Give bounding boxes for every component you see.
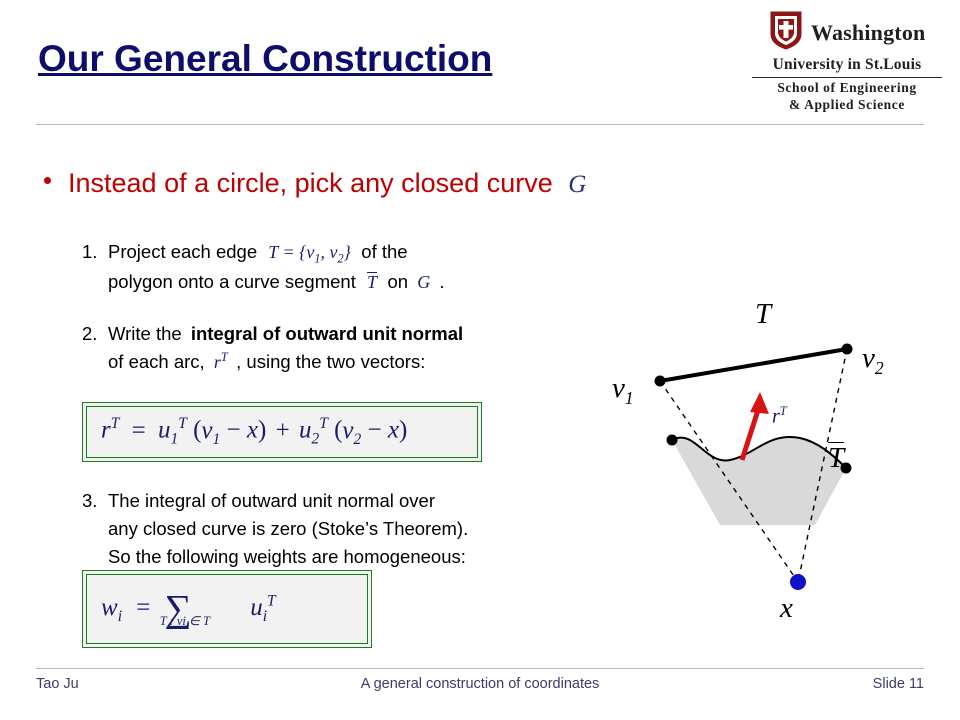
main-bullet-text: Instead of a circle, pick any closed cur… [68, 168, 553, 199]
arc-vector-math: rT [214, 352, 232, 372]
logo-line-3: School of Engineering [752, 80, 942, 97]
equation-box-1: rT = u1T (v1 − x) + u2T (v2 − x) [82, 402, 482, 462]
list-item-3-line2: any closed curve is zero (Stoke’s Theore… [108, 518, 468, 539]
equation-1-formula: rT = u1T (v1 − x) + u2T (v2 − x) [101, 415, 407, 448]
logo-line-2: University in St.Louis [752, 56, 942, 74]
list-item-1-line2-pre: polygon onto a curve segment [108, 271, 356, 292]
footer-title: A general construction of coordinates [0, 676, 960, 692]
curve-symbol-G: G [568, 171, 586, 198]
footer-slide-number: Slide 11 [873, 676, 924, 692]
title-divider [36, 124, 924, 125]
logo-divider [752, 77, 942, 78]
list-item-2-number: 2. [82, 320, 108, 348]
curve-G-math: G [417, 272, 430, 292]
label-x: x [780, 592, 793, 625]
bullet-dot-icon [44, 177, 51, 184]
wustl-shield-icon [769, 10, 803, 55]
list-item-1: 1. Project each edge T = {v1, v2} of the… [82, 238, 502, 296]
list-item-1-line1-pre: Project each edge [108, 241, 257, 262]
slide: Washington University in St.Louis School… [0, 0, 960, 720]
list-item-1-line2-mid: on [388, 271, 409, 292]
list-item-2-line2-pre: of each arc, [108, 351, 205, 372]
figure-svg [600, 320, 950, 630]
normal-arrow-head [750, 392, 769, 414]
construction-figure: T v2 v1 rT T x [600, 320, 950, 630]
equation-box-2: wi = ∑T : vi ∈ T uiT [82, 570, 372, 648]
list-item-2-line2-post: , using the two vectors: [236, 351, 425, 372]
page-title: Our General Construction [38, 38, 492, 80]
label-rT: rT [772, 404, 787, 429]
university-logo: Washington University in St.Louis School… [752, 10, 942, 114]
curve-endpoint-a [667, 435, 678, 446]
list-item-3: 3. The integral of outward unit normal o… [82, 487, 552, 570]
list-item-2-line1-bold: integral of outward unit normal [191, 323, 463, 344]
label-v1: v1 [612, 372, 634, 409]
list-item-1-line1-post: of the [361, 241, 407, 262]
edge-definition-math: T = {v1, v2} [268, 242, 355, 262]
list-item-3-line3: So the following weights are homogeneous… [108, 546, 466, 567]
main-bullet: Instead of a circle, pick any closed cur… [44, 168, 764, 199]
list-item-1-number: 1. [82, 238, 108, 266]
curve-segment-math: T [367, 272, 382, 292]
label-T: T [755, 298, 771, 331]
list-item-3-number: 3. [82, 487, 108, 515]
list-item-2: 2. Write the integral of outward unit no… [82, 320, 552, 376]
logo-line-4: & Applied Science [752, 97, 942, 114]
footer-divider [36, 668, 924, 669]
vertex-v2-point [842, 344, 853, 355]
edge-T-line [660, 349, 847, 381]
label-v2: v2 [862, 342, 884, 379]
list-item-1-line2-post: . [439, 271, 444, 292]
list-item-3-line1: The integral of outward unit normal over [108, 490, 435, 511]
equation-2-formula: wi = ∑T : vi ∈ T uiT [101, 587, 276, 631]
label-T-bar: T [828, 442, 844, 475]
vertex-v1-point [655, 376, 666, 387]
list-item-2-line1-pre: Write the [108, 323, 182, 344]
logo-line-1: Washington [811, 21, 926, 44]
point-x [790, 574, 806, 590]
